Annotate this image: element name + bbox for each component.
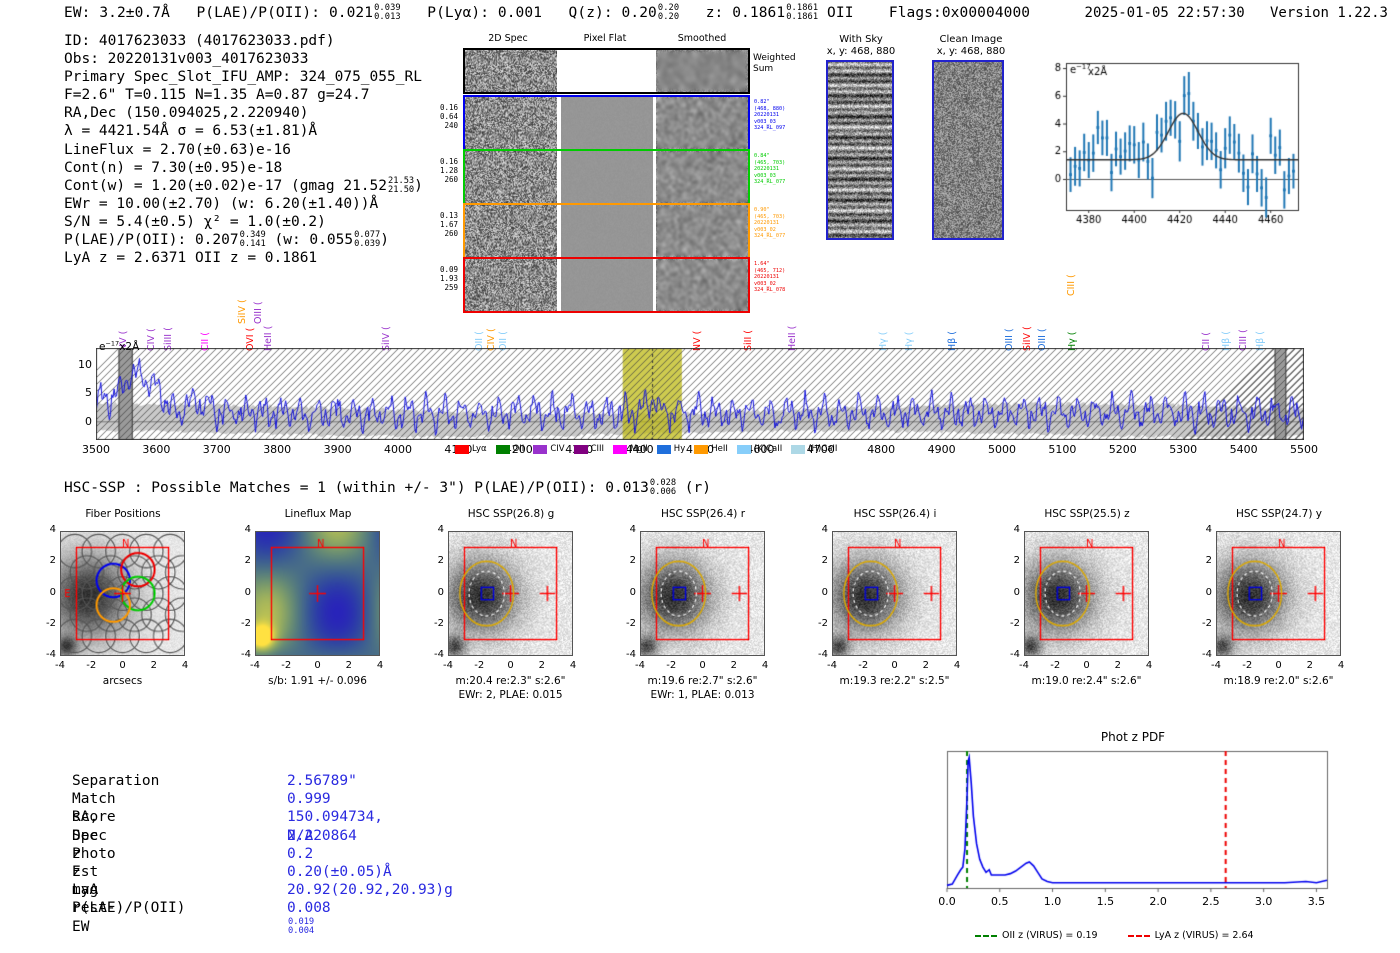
param-cont-w: Cont(w) = 1.20(±0.02)e-17 (gmag 21.5221.… [64,177,423,195]
cutout-xtick: 0 [881,660,909,671]
param-lineflux: LineFlux = 2.70(±0.63)e-16 [64,141,423,159]
spec2d-titles: 2D Spec Pixel Flat Smoothed [462,33,762,47]
fiber-right-value: 324_RL_097 [754,125,785,132]
cutout-xtick: 0 [304,660,332,671]
param-plae-post: ) [380,232,389,248]
parameter-block: ID: 4017623033 (4017623033.pdf) Obs: 202… [64,32,423,267]
header-plae-label: P(LAE)/P(OII): [196,5,320,21]
param-plae-pre: P(LAE)/P(OII): 0.207 [64,232,239,248]
hsc-ssp-header: HSC-SSP : Possible Matches = 1 (within +… [64,479,711,497]
match-table-value: 0.20(±0.05)Å [287,863,392,881]
cutout-xtick: 0 [1265,660,1293,671]
cutout-ytick: 0 [1190,587,1212,598]
cutout-image [1024,531,1149,656]
cutout-xtick: -2 [1233,660,1261,671]
fiber-left-value: 1.67 [414,220,458,229]
cutout-ytick: -4 [998,649,1020,660]
timestamp: 2025-01-05 22:57:30 [1085,5,1245,21]
cutout-caption-1: m:19.3 re:2.2" s:2.5" [806,675,983,687]
fiber-left-value: 240 [414,121,458,130]
photz-xtick: 1.0 [1035,895,1071,908]
match-table-value: N/A [287,827,313,845]
header-summary: EW: 3.2±0.7Å P(LAE)/P(OII): 0.0210.0390.… [64,4,1030,22]
legend-label: HeII [711,444,728,454]
cutout-xtick: -2 [657,660,685,671]
spec2d-title-pixelflat: Pixel Flat [559,33,651,44]
cutout-caption-1: m:19.0 re:2.4" s:2.6" [998,675,1175,687]
cutout-xtick: 2 [528,660,556,671]
cutout-ytick: 2 [229,555,251,566]
fiber-right-labels: 0.90"(465, 703)20220131v003_02324_RL_077 [754,207,785,240]
fiber-left-value: 1.93 [414,274,458,283]
cutout-xtick: 4 [171,660,199,671]
cutout-title: HSC SSP(26.8) g [436,508,586,520]
header-z-value: 0.1861 [732,5,785,21]
cutout-ytick: -2 [34,618,56,629]
spectrum-legend: LyαOIICIVCIIIMgIIHyHeII(K)CaII(H)CaII [455,444,837,454]
cutout-ytick: 2 [422,555,444,566]
photz-legend-swatch [1128,935,1150,937]
cutout-title: HSC SSP(24.7) y [1204,508,1354,520]
param-cont-n: Cont(n) = 7.30(±0.95)e-18 [64,159,423,177]
photz-legend: OII z (VIRUS) = 0.19LyA z (VIRUS) = 2.64 [975,930,1254,941]
spec2d-fiber-row: 0.091.932591.64"(465, 712)20220131v003_0… [462,257,802,313]
param-ewr: EWr = 10.00(±2.70) (w: 6.20(±1.40))Å [64,195,423,213]
cutout-ytick: -2 [1190,618,1212,629]
cutout-ytick: 2 [998,555,1020,566]
spectrum-ytick: 5 [66,386,92,399]
legend-swatch [657,445,671,454]
spectrum-line-label: CIII ( [1066,274,1077,296]
spec2d-fiber-row: 0.160.642400.82"(468, 880)20220131v003_0… [462,95,802,151]
fiber-right-value: v003_02 [754,281,785,288]
fiber-pixelflat-image [561,259,653,311]
cutout-xtick: -4 [1202,660,1230,671]
spectrum-legend-item: MgII [613,444,648,454]
cutout-ytick: -2 [614,618,636,629]
match-table-value: 2.56789" [287,772,357,790]
cutout-xtick: 4 [366,660,394,671]
cutout-ytick: 4 [806,524,828,535]
param-plae-lo: 0.141 [240,240,266,249]
fiber-left-labels: 0.160.64240 [414,103,458,131]
fiber-left-labels: 0.131.67260 [414,211,458,239]
cutout-ytick: -2 [806,618,828,629]
header-z-label: z: [706,5,724,21]
param-cont-w-lo: 21.50 [388,186,414,195]
cutout-xtick: 2 [720,660,748,671]
header-flags: Flags:0x00004000 [889,5,1030,21]
legend-label: CIV [550,444,564,454]
fiber-2dspec-image [465,259,557,311]
cutout-image [448,531,573,656]
cutout-title: Lineflux Map [243,508,393,520]
cutout-caption-1: m:19.6 re:2.7" s:2.6" [614,675,791,687]
cutout-ytick: 0 [229,587,251,598]
cutout-xtick: -4 [241,660,269,671]
match-table-value: 0.0080.0190.004 [287,899,331,935]
cutout-xtick: 4 [1135,660,1163,671]
cutout-xtick: -4 [434,660,462,671]
legend-swatch [791,445,805,454]
cutout-ytick: 0 [614,587,636,598]
legend-label: Hy [674,444,685,454]
param-plae-mid: (w: 0.055 [275,232,354,248]
cutout-xtick: 0 [1073,660,1101,671]
param-plae-w-lo: 0.039 [354,240,380,249]
legend-label: (H)CaII [808,444,837,454]
legend-swatch [694,445,708,454]
cutout-ytick: 4 [229,524,251,535]
match-table-key: Separation [72,772,159,790]
fiber-pixelflat-image [561,151,653,203]
spectrum-legend-item: OII [496,444,525,454]
legend-label: MgII [630,444,648,454]
fiber-smoothed-image [656,259,748,311]
fiber-left-value: 259 [414,283,458,292]
fiber-strip [463,149,750,205]
fiber-pixelflat-image [561,205,653,257]
hsc-header-filter: (r) [685,480,711,496]
fiber-left-value: 0.09 [414,265,458,274]
header-plae-lo: 0.013 [374,13,401,22]
fiber-right-value: (468, 880) [754,106,785,113]
cutout-image [60,531,185,656]
cutout-xtick: 4 [751,660,779,671]
header-z-lo: 0.1861 [786,13,818,22]
photz-legend-item: LyA z (VIRUS) = 2.64 [1128,930,1254,941]
photz-xtick: 3.0 [1246,895,1282,908]
photz-xtick: 1.5 [1087,895,1123,908]
header-ew: EW: 3.2±0.7Å [64,5,170,21]
spectrum-flux-unit: e−17x2Å [99,341,139,353]
header-plae-value: 0.021 [329,5,373,21]
with-sky-title: With Sky [812,34,910,46]
spec2d-weighted-sum-panel [463,48,750,94]
fiber-smoothed-image [656,205,748,257]
cutout-xtick: 4 [943,660,971,671]
param-lambda-sigma: λ = 4421.54Å σ = 6.53(±1.81)Å [64,122,423,140]
cutout-ytick: 2 [806,555,828,566]
fiber-right-value: 20220131 [754,112,785,119]
cutout-caption-2: EWr: 2, PLAE: 0.015 [422,689,599,701]
cutout-xtick: 0 [109,660,137,671]
photz-pdf-title: Phot z PDF [933,730,1333,744]
fiber-left-labels: 0.091.93259 [414,265,458,293]
legend-swatch [613,445,627,454]
legend-swatch [533,445,547,454]
cutout-xtick: 0 [497,660,525,671]
header-qz-value: 0.20 [622,5,657,21]
cutout-ytick: -4 [34,649,56,660]
clean-image-header: Clean Image x, y: 468, 880 [916,34,1026,58]
legend-swatch [737,445,751,454]
weighted-sum-line1: Weighted [753,53,796,64]
fiber-2dspec-image [465,205,557,257]
spectrum-legend-item: Hy [657,444,685,454]
full-spectrum-plot [96,348,1304,440]
cutout-ytick: 0 [34,587,56,598]
fiber-right-labels: 1.64"(465, 712)20220131v003_02324_RL_078 [754,261,785,294]
cutout-xtick: -4 [626,660,654,671]
photz-legend-label: OII z (VIRUS) = 0.19 [1002,930,1098,941]
fiber-right-value: 20220131 [754,166,785,173]
spectrum-xtick: 5300 [1161,443,1205,456]
cutout-title: HSC SSP(26.4) i [820,508,970,520]
cutout-row: Fiber Positions420-2-4-4-2024arcsecsLine… [0,508,1400,738]
spectrum-xtick: 5400 [1222,443,1266,456]
fiber-right-value: (465, 712) [754,268,785,275]
cutout-image [832,531,957,656]
timestamp-version: 2025-01-05 22:57:30 Version 1.22.3 [1085,5,1388,21]
fiber-2dspec-image [465,151,557,203]
fiber-right-value: v003_03 [754,119,785,126]
cutout-ytick: 4 [1190,524,1212,535]
param-radec: RA,Dec (150.094025,2.220940) [64,104,423,122]
cutout-image [255,531,380,656]
cutout-caption-1: m:20.4 re:2.3" s:2.6" [422,675,599,687]
cutout-xtick: 2 [1296,660,1324,671]
spectrum-legend-item: CIV [533,444,564,454]
cutout-ytick: 4 [34,524,56,535]
spec2d-fiber-list: 0.160.642400.82"(468, 880)20220131v003_0… [462,95,802,311]
header-plya: P(Lyα): 0.001 [427,5,542,21]
fiber-left-labels: 0.161.28260 [414,157,458,185]
cutout-ytick: 2 [34,555,56,566]
spectrum-xtick: 5500 [1282,443,1326,456]
param-obs: Obs: 20220131v003_4017623033 [64,50,423,68]
fiber-right-labels: 0.82"(468, 880)20220131v003_03324_RL_097 [754,99,785,132]
fiber-left-value: 0.16 [414,103,458,112]
spectrum-legend-item: (K)CaII [737,444,782,454]
match-table-value: 0.999 [287,790,331,808]
legend-label: Lyα [472,444,487,454]
spectrum-xtick: 5000 [980,443,1024,456]
hsc-header-text: HSC-SSP : Possible Matches = 1 (within +… [64,480,649,496]
spectrum-xtick: 5100 [1040,443,1084,456]
photz-xtick: 2.5 [1193,895,1229,908]
cutout-title: HSC SSP(25.5) z [1012,508,1162,520]
fiber-right-value: 324_RL_077 [754,233,785,240]
fiber-right-value: 0.84" [754,153,785,160]
legend-swatch [496,445,510,454]
header-z-type: OII [827,5,854,21]
fiber-right-value: 1.64" [754,261,785,268]
fiber-right-value: v003_03 [754,173,785,180]
cutout-ytick: -2 [998,618,1020,629]
cutout-xtick: 2 [140,660,168,671]
cutout-xtick: -2 [465,660,493,671]
hsc-header-lo: 0.006 [650,488,676,497]
photz-xtick: 2.0 [1140,895,1176,908]
cutout-xtick: 2 [335,660,363,671]
weighted-sum-line2: Sum [753,64,796,75]
cutout-ytick: -4 [422,649,444,660]
cutout-xtick: 0 [689,660,717,671]
header-qz-lo: 0.20 [658,13,679,22]
cutout-ytick: 4 [614,524,636,535]
param-cont-w-pre: Cont(w) = 1.20(±0.02)e-17 (gmag 21.52 [64,178,387,194]
cutout-title: Fiber Positions [48,508,198,520]
match-table-key: mag [72,881,98,899]
legend-label: (K)CaII [754,444,782,454]
weighted-sum-label: Weighted Sum [753,53,796,75]
fiber-right-value: (465, 703) [754,214,785,221]
spectrum-xtick: 3700 [195,443,239,456]
fiber-right-value: 324_RL_077 [754,179,785,186]
match-table-value: 20.92(20.92,20.93)g [287,881,453,899]
cutout-xtick: -4 [1010,660,1038,671]
spectrum-xtick: 3500 [74,443,118,456]
cutout-ytick: -4 [1190,649,1212,660]
cutout-caption-1: s/b: 1.91 +/- 0.096 [229,675,406,687]
cutout-caption-1: m:18.9 re:2.0" s:2.6" [1190,675,1367,687]
legend-swatch [455,445,469,454]
fiber-left-value: 0.64 [414,112,458,121]
spectrum-xtick: 3900 [316,443,360,456]
spectrum-xtick: 4000 [376,443,420,456]
param-seeing-row: F=2.6" T=0.115 N=1.35 A=0.87 g=24.7 [64,86,423,104]
spec2d-fiber-row: 0.131.672600.90"(465, 703)20220131v003_0… [462,203,802,259]
cutout-ytick: 2 [614,555,636,566]
cutout-xtick: 4 [1327,660,1355,671]
clean-image-xy: x, y: 468, 880 [916,46,1026,58]
cutout-title: HSC SSP(26.4) r [628,508,778,520]
match-table-key: P(LAE)/P(OII) [72,899,186,917]
cutout-xtick: -4 [818,660,846,671]
cutout-xtick: 2 [1104,660,1132,671]
param-sn-chi2: S/N = 5.4(±0.5) χ² = 1.0(±0.2) [64,213,423,231]
fiber-left-value: 0.13 [414,211,458,220]
cutout-xtick: 2 [912,660,940,671]
photz-legend-item: OII z (VIRUS) = 0.19 [975,930,1098,941]
cutout-xtick: 4 [559,660,587,671]
legend-swatch [574,445,588,454]
param-plae: P(LAE)/P(OII): 0.2070.3490.141 (w: 0.055… [64,231,423,249]
cutout-xtick: -2 [849,660,877,671]
cutout-xtick: -2 [272,660,300,671]
cutout-ytick: 0 [806,587,828,598]
spectrum-line-label: SiIV ( [237,299,248,324]
clean-image-title: Clean Image [916,34,1026,46]
fiber-strip [463,257,750,313]
photz-xtick: 3.5 [1298,895,1334,908]
line-fit-plot [1036,55,1304,240]
cutout-ytick: 0 [422,587,444,598]
photz-xtick: 0.5 [982,895,1018,908]
cutout-image [1216,531,1341,656]
spectrum-xtick: 4900 [920,443,964,456]
with-sky-image [826,60,894,240]
version: Version 1.22.3 [1270,5,1388,21]
spectrum-xtick: 4800 [859,443,903,456]
spec2d-title-2dspec: 2D Spec [462,33,554,44]
header-qz-label: Q(z): [569,5,613,21]
spectrum-ytick: 10 [66,358,92,371]
cutout-xtick: -4 [46,660,74,671]
cutout-caption-2: EWr: 1, PLAE: 0.013 [614,689,791,701]
spectrum-legend-item: CIII [574,444,604,454]
param-primary-spec-slot: Primary Spec_Slot_IFU_AMP: 324_075_055_R… [64,68,423,86]
legend-label: CIII [591,444,604,454]
fiber-left-value: 260 [414,229,458,238]
fiber-right-value: 20220131 [754,274,785,281]
legend-label: OII [513,444,525,454]
spectrum-xtick: 3600 [134,443,178,456]
cutout-ytick: -2 [229,618,251,629]
cutout-ytick: 2 [1190,555,1212,566]
fiber-left-value: 260 [414,175,458,184]
param-id: ID: 4017623033 (4017623033.pdf) [64,32,423,50]
photz-legend-label: LyA z (VIRUS) = 2.64 [1155,930,1254,941]
photz-xtick: 0.0 [929,895,965,908]
match-plae-lo: 0.004 [288,927,314,936]
fiber-strip [463,95,750,151]
cutout-ytick: -4 [806,649,828,660]
fiber-right-value: (465, 703) [754,160,785,167]
spectrum-legend-item: HeII [694,444,728,454]
spec2d-fiber-row: 0.161.282600.84"(465, 703)20220131v003_0… [462,149,802,205]
param-redshifts: LyA z = 2.6371 OII z = 0.1861 [64,249,423,267]
cutout-image [640,531,765,656]
cutout-xtick: -2 [1041,660,1069,671]
fiber-left-value: 1.28 [414,166,458,175]
fiber-right-value: 0.82" [754,99,785,106]
fiber-pixelflat-image [561,97,653,149]
spectrum-legend-item: Lyα [455,444,487,454]
with-sky-xy: x, y: 468, 880 [812,46,910,58]
cutout-xtick: -2 [77,660,105,671]
cutout-ytick: -2 [422,618,444,629]
fiber-2dspec-image [465,97,557,149]
match-table-value: 0.2 [287,845,313,863]
with-sky-header: With Sky x, y: 468, 880 [812,34,910,58]
cutout-ytick: 4 [422,524,444,535]
cutout-caption-1: arcsecs [34,675,211,687]
cutout-ytick: 4 [998,524,1020,535]
fiber-right-value: 20220131 [754,220,785,227]
spectrum-xtick: 5200 [1101,443,1145,456]
photz-legend-swatch [975,935,997,937]
fiber-right-value: 0.90" [754,207,785,214]
spec2d-title-smoothed: Smoothed [656,33,748,44]
fiber-smoothed-image [656,97,748,149]
fiber-right-value: 324_RL_078 [754,287,785,294]
fiber-right-value: v003_02 [754,227,785,234]
spectrum-line-label: OIII ( [253,301,264,324]
fiber-right-labels: 0.84"(465, 703)20220131v003_03324_RL_077 [754,153,785,186]
spectrum-xtick: 3800 [255,443,299,456]
fiber-left-value: 0.16 [414,157,458,166]
cutout-ytick: 0 [998,587,1020,598]
spectrum-legend-item: (H)CaII [791,444,837,454]
cutout-ytick: -4 [229,649,251,660]
clean-image-image [932,60,1004,240]
cutout-ytick: -4 [614,649,636,660]
spectrum-ytick: 0 [66,415,92,428]
photz-pdf-plot [933,745,1333,910]
fiber-strip [463,203,750,259]
fiber-smoothed-image [656,151,748,203]
